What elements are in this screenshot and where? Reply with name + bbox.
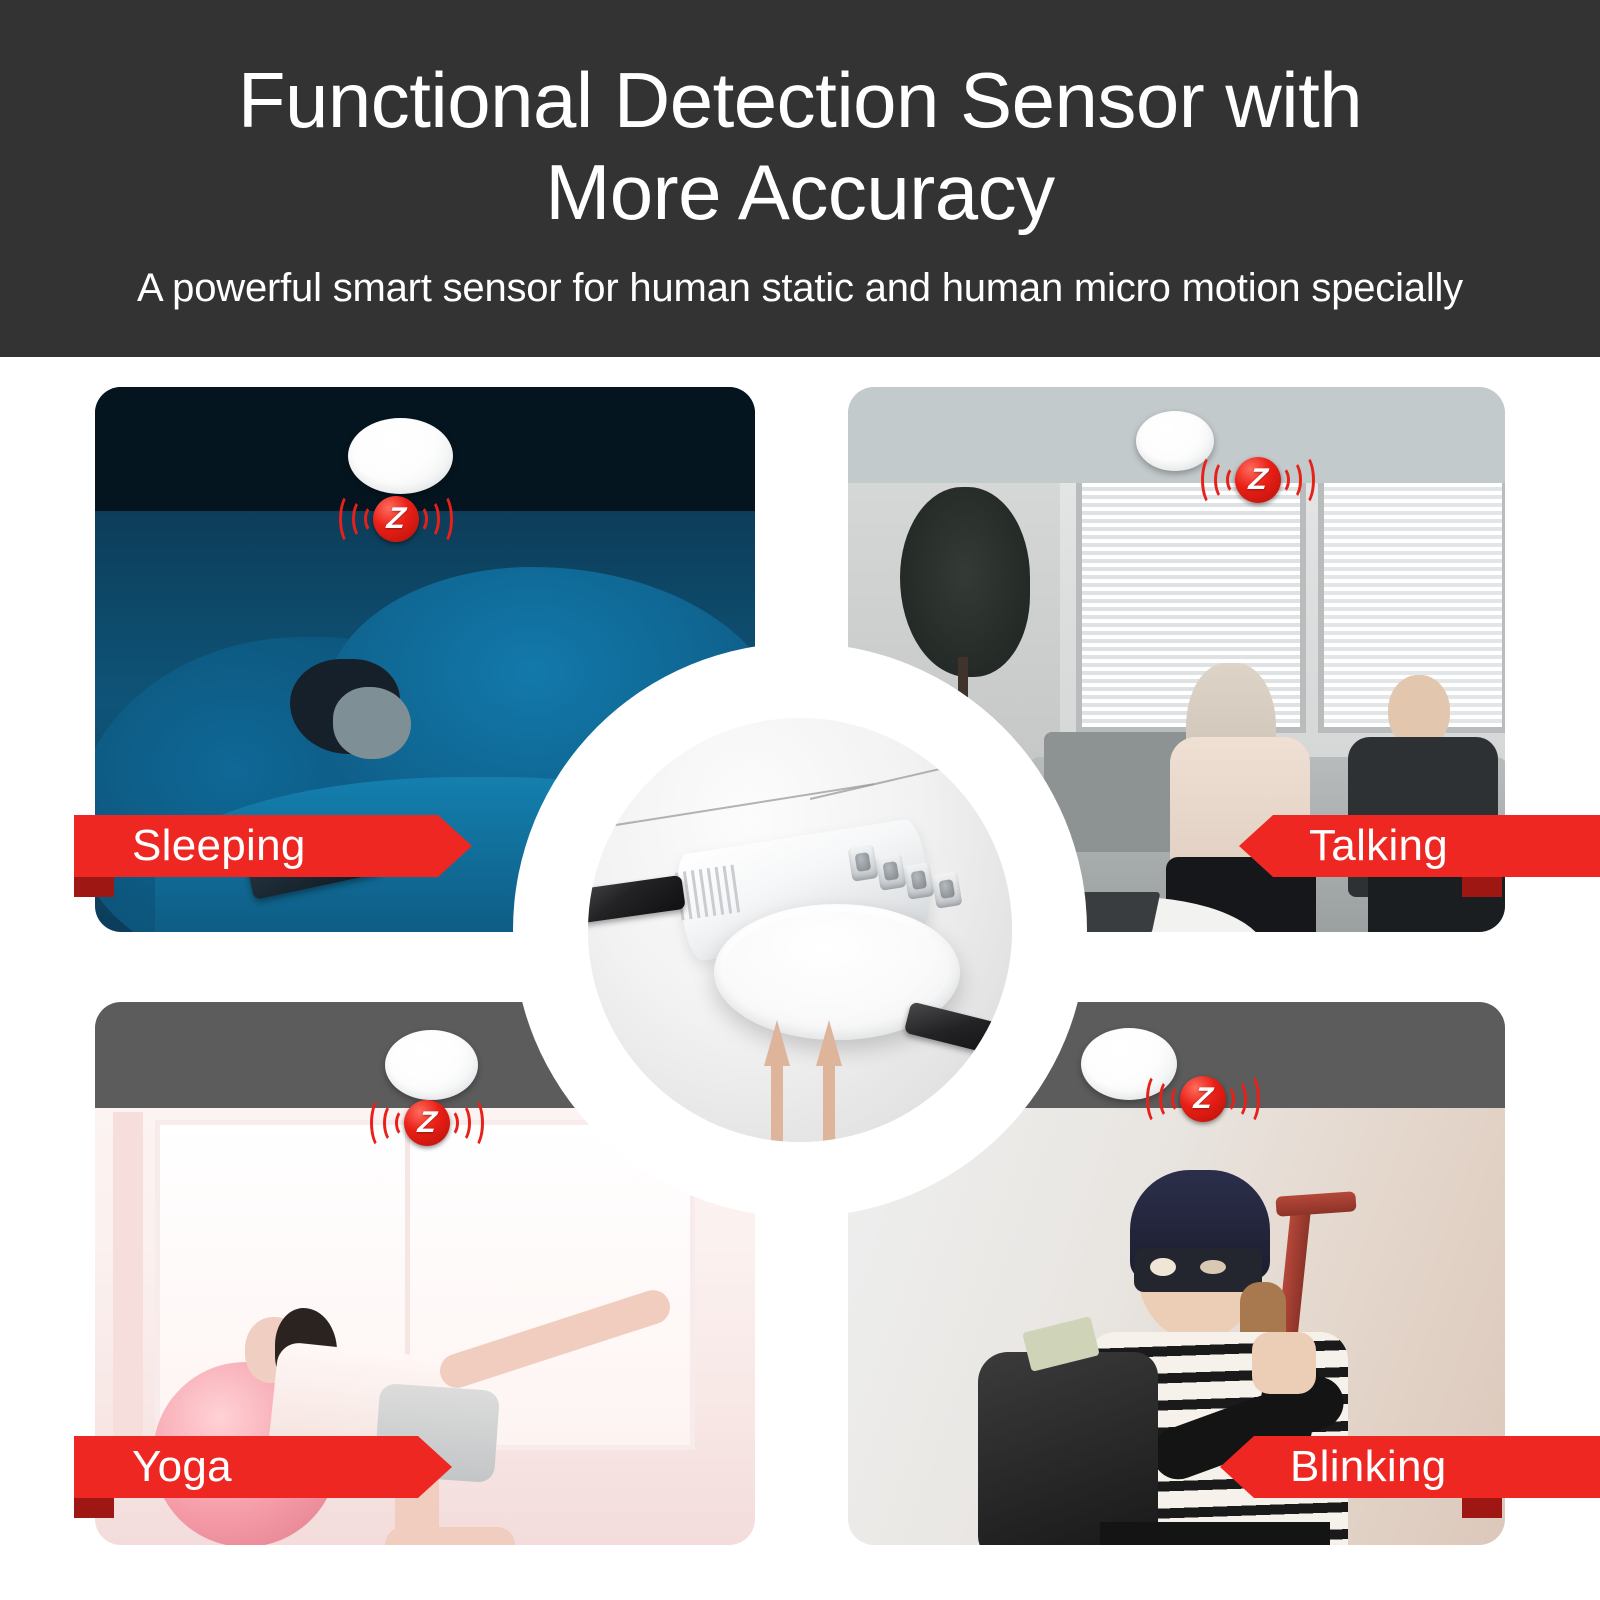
ceiling-sensor-puck-icon bbox=[385, 1030, 478, 1100]
zigbee-letter: Z bbox=[1247, 465, 1268, 495]
zigbee-signal-icon: Z bbox=[1198, 449, 1318, 511]
page-subtitle: A powerful smart sensor for human static… bbox=[137, 264, 1463, 312]
badge-shadow-talking bbox=[1462, 875, 1502, 897]
zigbee-letter: Z bbox=[385, 504, 406, 534]
terminal-block-3 bbox=[904, 862, 935, 900]
zigbee-signal-icon: Z bbox=[367, 1092, 487, 1154]
header-banner: Functional Detection Sensor with More Ac… bbox=[0, 0, 1600, 357]
page-title: Functional Detection Sensor with More Ac… bbox=[140, 54, 1460, 238]
ceiling-sensor-puck-icon bbox=[348, 418, 453, 494]
badge-shadow-sleeping bbox=[74, 875, 114, 897]
badge-shadow-blinking bbox=[1462, 1496, 1502, 1518]
badge-shadow-yoga bbox=[74, 1496, 114, 1518]
badge-label-blinking: Blinking bbox=[1290, 1445, 1447, 1489]
center-product-photo[interactable] bbox=[588, 718, 1012, 1142]
badge-talking[interactable]: Talking bbox=[1239, 815, 1600, 877]
badge-label-sleeping: Sleeping bbox=[132, 824, 306, 868]
badge-label-yoga: Yoga bbox=[132, 1445, 232, 1489]
zigbee-letter: Z bbox=[1192, 1084, 1213, 1114]
zigbee-letter: Z bbox=[416, 1108, 437, 1138]
terminal-block-1 bbox=[848, 844, 879, 882]
badge-label-talking: Talking bbox=[1309, 824, 1448, 868]
terminal-block-4 bbox=[932, 871, 963, 909]
zigbee-signal-icon: Z bbox=[336, 488, 456, 550]
badge-blinking[interactable]: Blinking bbox=[1220, 1436, 1600, 1498]
detection-arrow-left-icon bbox=[764, 1020, 790, 1142]
detection-arrow-right-icon bbox=[816, 1020, 842, 1142]
badge-yoga[interactable]: Yoga bbox=[74, 1436, 452, 1498]
zigbee-signal-icon: Z bbox=[1143, 1068, 1263, 1130]
terminal-block-2 bbox=[876, 853, 907, 891]
badge-sleeping[interactable]: Sleeping bbox=[74, 815, 472, 877]
